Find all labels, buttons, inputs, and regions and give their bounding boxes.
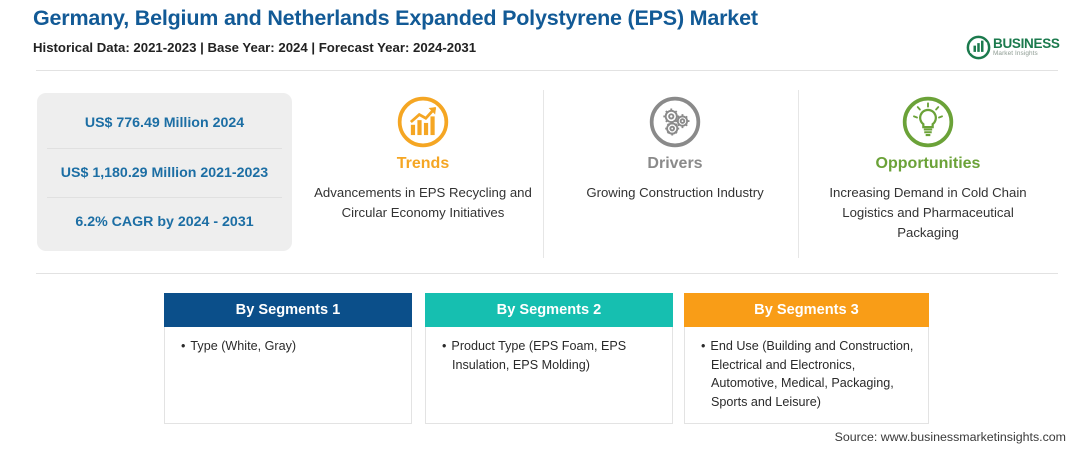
logo-tagline: Market Insights	[993, 51, 1060, 57]
stat-row: US$ 776.49 Million 2024	[47, 99, 282, 148]
opportunities-lightbulb-icon	[812, 93, 1044, 151]
kpi-divider	[543, 90, 544, 258]
header-divider	[36, 70, 1058, 71]
segment-body: Product Type (EPS Foam, EPS Insulation, …	[426, 327, 672, 374]
segment-heading: By Segments 2	[425, 293, 673, 327]
drivers-gears-icon	[560, 93, 790, 151]
header: Germany, Belgium and Netherlands Expande…	[0, 0, 1092, 71]
segment-list: Product Type (EPS Foam, EPS Insulation, …	[440, 337, 660, 374]
segment-card-3: By Segments 3 End Use (Building and Cons…	[684, 293, 929, 424]
trends-chart-icon	[303, 93, 543, 151]
kpi-description: Growing Construction Industry	[560, 183, 790, 203]
segment-list: End Use (Building and Construction, Elec…	[699, 337, 916, 411]
section-divider	[36, 273, 1058, 274]
kpi-description: Increasing Demand in Cold Chain Logistic…	[812, 183, 1044, 243]
kpi-drivers: Drivers Growing Construction Industry	[560, 93, 790, 203]
kpi-title: Drivers	[560, 155, 790, 173]
kpi-divider	[798, 90, 799, 258]
list-item: Product Type (EPS Foam, EPS Insulation, …	[452, 337, 660, 374]
market-stats-panel: US$ 776.49 Million 2024 US$ 1,180.29 Mil…	[37, 93, 292, 251]
segment-card-2: By Segments 2 Product Type (EPS Foam, EP…	[425, 293, 673, 424]
stat-row: 6.2% CAGR by 2024 - 2031	[47, 197, 282, 247]
logo-title: BUSINESS	[993, 37, 1060, 51]
kpi-trends: Trends Advancements in EPS Recycling and…	[303, 93, 543, 223]
kpi-opportunities: Opportunities Increasing Demand in Cold …	[812, 93, 1044, 243]
logo-emblem-icon	[966, 35, 991, 60]
brand-logo: BUSINESS Market Insights	[966, 33, 1062, 61]
segment-body: Type (White, Gray)	[165, 327, 411, 356]
source-attribution: Source: www.businessmarketinsights.com	[835, 430, 1066, 444]
stat-row: US$ 1,180.29 Million 2021-2023	[47, 148, 282, 198]
segment-list: Type (White, Gray)	[179, 337, 399, 356]
segment-card-1: By Segments 1 Type (White, Gray)	[164, 293, 412, 424]
logo-wordmark: BUSINESS Market Insights	[993, 37, 1060, 58]
kpi-title: Opportunities	[812, 155, 1044, 173]
kpi-description: Advancements in EPS Recycling and Circul…	[303, 183, 543, 223]
page-subtitle: Historical Data: 2021-2023 | Base Year: …	[33, 40, 476, 55]
segment-body: End Use (Building and Construction, Elec…	[685, 327, 928, 411]
page-title: Germany, Belgium and Netherlands Expande…	[33, 6, 758, 31]
segment-heading: By Segments 1	[164, 293, 412, 327]
segment-heading: By Segments 3	[684, 293, 929, 327]
list-item: End Use (Building and Construction, Elec…	[711, 337, 916, 411]
kpi-title: Trends	[303, 155, 543, 173]
list-item: Type (White, Gray)	[191, 337, 399, 356]
